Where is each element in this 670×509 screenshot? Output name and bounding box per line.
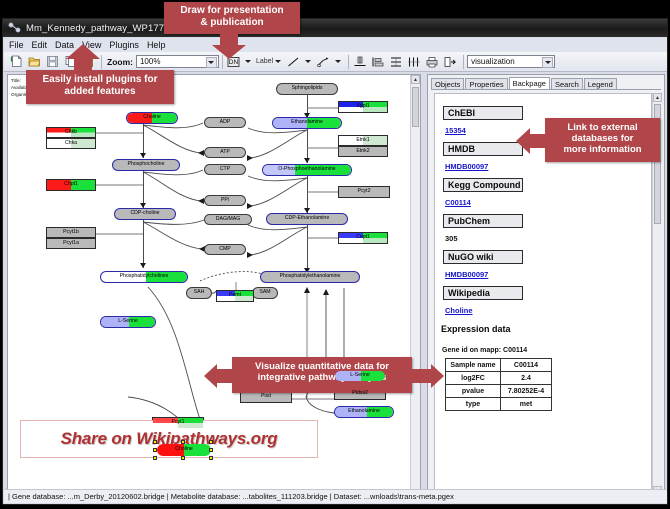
label-dropdown-icon[interactable]	[273, 55, 282, 68]
node-l-serine-left[interactable]: L-Serine	[100, 316, 156, 328]
node-chka[interactable]: Chka	[46, 138, 96, 149]
db-link-kegg[interactable]: C00114	[445, 198, 471, 207]
table-row: pvalue 7.80252E-4	[446, 385, 552, 398]
cell-key-log2fc: log2FC	[446, 372, 501, 385]
arrow-down-5	[304, 158, 310, 163]
node-chpt1[interactable]: Chpt1	[46, 179, 96, 191]
interaction-tool-icon[interactable]	[315, 54, 331, 70]
line-tool-icon[interactable]	[285, 54, 301, 70]
pathvisio-app-icon	[8, 22, 22, 34]
node-cdp-ethanolamine[interactable]: CDP-Ethanolamine	[266, 213, 348, 225]
node-phosphatidylethanolamine[interactable]: Phosphatidylethanolamine	[260, 271, 360, 283]
distribute-vertical-icon[interactable]	[388, 54, 404, 70]
callout-visualize-arrow-icon	[204, 364, 236, 388]
callout-draw-arrow-icon	[212, 33, 252, 59]
cell-key-sample-name: Sample name	[446, 359, 501, 372]
canvas-vertical-scrollbar[interactable]: ▲ ▼	[410, 75, 420, 500]
toolbar-separator-3	[348, 55, 349, 69]
db-header-hmdb: HMDB	[443, 142, 523, 156]
export-icon[interactable]	[442, 54, 458, 70]
node-phosphocholine[interactable]: Phosphocholine	[112, 159, 180, 171]
node-l-serine-right[interactable]: L-Serine	[334, 370, 386, 382]
expression-data-heading: Expression data	[441, 324, 511, 334]
db-header-nugo: NuGO wiki	[443, 250, 523, 264]
node-pemt-top[interactable]: Pemt	[216, 290, 254, 302]
scroll-up-arrow-icon[interactable]: ▲	[411, 75, 420, 84]
db-header-pubchem: PubChem	[443, 214, 523, 228]
line-dropdown-icon[interactable]	[303, 55, 312, 68]
visualization-value: visualization	[471, 57, 515, 66]
db-link-chebi[interactable]: 15354	[445, 126, 466, 135]
save-file-icon[interactable]	[44, 54, 60, 70]
selection-handle-nw[interactable]	[153, 440, 157, 444]
edge-cdpcholine-to-ptdcholine	[143, 220, 144, 268]
node-adp[interactable]: ADP	[204, 117, 246, 128]
selection-handle-se[interactable]	[209, 456, 213, 460]
zoom-label: Zoom:	[107, 57, 133, 67]
db-link-hmdb[interactable]: HMDB00097	[445, 162, 488, 171]
screenshot-root: Mm_Kennedy_pathway_WP1771_45176.gpml Fil…	[0, 0, 670, 509]
node-sphingolipids[interactable]: Sphingolipids	[276, 83, 338, 95]
table-row: Sample name C00114	[446, 359, 552, 372]
node-ethanolamine-right[interactable]: Ethanolamine	[334, 406, 394, 418]
status-bar-text: | Gene database: ...m_Derby_20120602.bri…	[8, 492, 454, 501]
callout-links: Link to external databases for more info…	[545, 118, 660, 162]
backpage-scroll-up-icon[interactable]: ▲	[653, 93, 662, 102]
status-bar: | Gene database: ...m_Derby_20120602.bri…	[4, 489, 667, 503]
callout-visualize: Visualize quantitative data for integrat…	[232, 357, 412, 393]
align-bottom-icon[interactable]	[352, 54, 368, 70]
node-pcyt1a[interactable]: Pcyt1a	[46, 238, 96, 249]
node-ppi[interactable]: PPi	[204, 195, 246, 206]
node-pcyt1[interactable]: Pcyt1	[152, 417, 204, 429]
visualization-chevron-down-icon[interactable]	[542, 57, 553, 68]
table-row: log2FC 2.4	[446, 372, 552, 385]
callout-links-arrow-icon	[516, 128, 548, 154]
cell-key-type: type	[446, 398, 501, 411]
node-sah[interactable]: SAH	[186, 287, 212, 299]
callout-visualize-arrow-right-icon	[412, 364, 444, 388]
callout-draw: Draw for presentation & publication	[164, 2, 300, 34]
db-header-chebi: ChEBI	[443, 106, 523, 120]
menu-edit[interactable]: Edit	[32, 40, 48, 50]
node-choline-selected[interactable]: Choline	[156, 443, 212, 457]
node-pcyt1b[interactable]: Pcyt1b	[46, 227, 96, 238]
zoom-value: 100%	[140, 57, 160, 66]
menu-help[interactable]: Help	[147, 40, 166, 50]
db-header-wikipedia: Wikipedia	[443, 286, 523, 300]
callout-plugins-arrow-icon	[66, 44, 106, 72]
node-sgpl1[interactable]: Sgpl1	[338, 101, 388, 113]
menu-plugins[interactable]: Plugins	[109, 40, 139, 50]
gene-id-on-mapp-label: Gene id on mapp: C00114	[442, 347, 527, 354]
print-icon[interactable]	[424, 54, 440, 70]
window-titlebar: Mm_Kennedy_pathway_WP1771_45176.gpml	[3, 19, 667, 37]
node-sam[interactable]: SAM	[252, 287, 278, 299]
selection-handle-sw[interactable]	[153, 456, 157, 460]
node-choline-top[interactable]: Choline	[126, 112, 178, 124]
new-file-icon[interactable]	[8, 54, 24, 70]
label-tool-label[interactable]: Label	[256, 58, 273, 65]
tab-underline	[431, 89, 661, 90]
canvas-vscroll-thumb[interactable]	[412, 87, 419, 127]
node-atp[interactable]: ATP	[204, 147, 246, 158]
align-left-icon[interactable]	[370, 54, 386, 70]
cell-value-type: met	[501, 398, 552, 411]
selection-handle-s[interactable]	[181, 456, 185, 460]
node-etnk1[interactable]: Etnk1	[338, 135, 388, 146]
node-ethanolamine-top[interactable]: Ethanolamine	[272, 117, 342, 129]
node-cept1[interactable]: Cept1	[338, 232, 388, 244]
cell-value-log2fc: 2.4	[501, 372, 552, 385]
svg-text:DN: DN	[229, 59, 239, 66]
arrow-down-1	[140, 153, 146, 158]
db-link-nugo[interactable]: HMDB00097	[445, 270, 488, 279]
node-phosphatidylcholines[interactable]: Phosphatidylcholines	[100, 271, 188, 283]
cell-value-sample-name: C00114	[501, 359, 552, 372]
node-cmp[interactable]: CMP	[204, 244, 246, 255]
node-cdp-choline[interactable]: CDP-choline	[114, 208, 176, 220]
node-ctp[interactable]: CTP	[204, 164, 246, 175]
interaction-dropdown-icon[interactable]	[333, 55, 342, 68]
table-row: type met	[446, 398, 552, 411]
node-chkb[interactable]: Chkb	[46, 127, 96, 138]
db-value-pubchem: 305	[445, 234, 458, 243]
selection-handle-ne[interactable]	[209, 440, 213, 444]
cell-key-pvalue: pvalue	[446, 385, 501, 398]
toolbar-separator-4	[463, 55, 464, 69]
cell-value-pvalue: 7.80252E-4	[501, 385, 552, 398]
node-pcyt2[interactable]: Pcyt2	[338, 186, 390, 198]
node-etnk2[interactable]: Etnk2	[338, 146, 388, 157]
node-dagmag[interactable]: DAG/MAG	[204, 214, 252, 225]
visualization-combo[interactable]: visualization	[467, 55, 555, 68]
zoom-combo[interactable]: 100%	[136, 55, 219, 68]
arrow-down-3	[140, 263, 146, 268]
selection-handle-w[interactable]	[153, 448, 157, 452]
db-header-kegg: Kegg Compound	[443, 178, 523, 192]
db-link-wikipedia[interactable]: Choline	[445, 306, 473, 315]
expression-table: Sample name C00114 log2FC 2.4 pvalue 7.8…	[445, 358, 552, 411]
distribute-horizontal-icon[interactable]	[406, 54, 422, 70]
selection-handle-n[interactable]	[181, 440, 185, 444]
open-file-icon[interactable]	[26, 54, 42, 70]
edge-cdpethanolamine-to-ptdethanolamine	[307, 225, 308, 273]
selection-handle-e[interactable]	[209, 448, 213, 452]
node-o-phosphoethanolamine[interactable]: O-Phosphoethanolamine	[262, 164, 352, 176]
callout-plugins: Easily install plugins for added feature…	[26, 70, 174, 104]
menu-file[interactable]: File	[9, 40, 24, 50]
